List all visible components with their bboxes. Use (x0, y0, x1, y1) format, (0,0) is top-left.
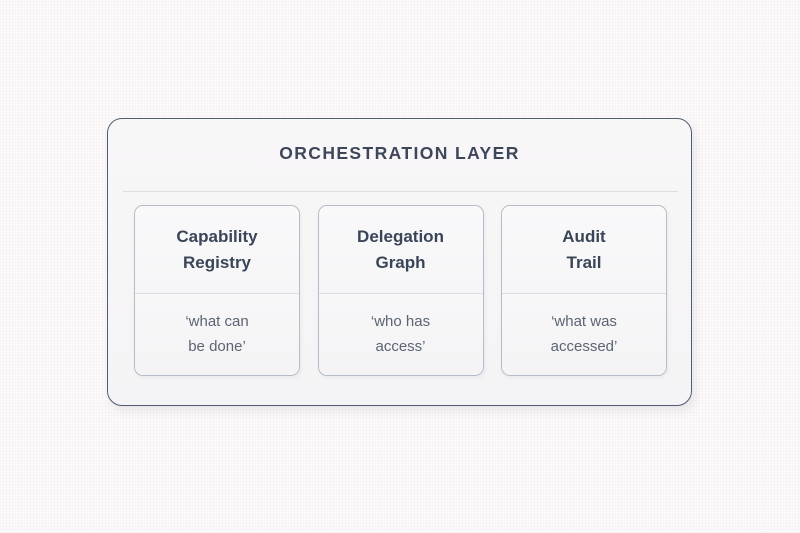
card-caption-zone: ‘what can be done’ (135, 294, 299, 375)
card-title-zone: Delegation Graph (319, 206, 483, 294)
card-title-zone: Capability Registry (135, 206, 299, 294)
card-title-zone: Audit Trail (502, 206, 666, 294)
card-title-line-1: Audit (562, 224, 605, 250)
card-delegation-graph[interactable]: Delegation Graph ‘who has access’ (318, 205, 484, 376)
card-caption-line-1: ‘what can (185, 310, 248, 334)
panel-divider (123, 191, 678, 192)
card-caption-line-2: access’ (375, 335, 425, 359)
orchestration-layer-diagram: ORCHESTRATION LAYER Capability Registry … (0, 0, 800, 533)
card-caption-zone: ‘what was accessed’ (502, 294, 666, 375)
card-title-line-2: Registry (183, 250, 251, 276)
card-title-line-1: Capability (176, 224, 257, 250)
card-title-line-1: Delegation (357, 224, 444, 250)
orchestration-layer-panel: ORCHESTRATION LAYER Capability Registry … (107, 118, 692, 406)
card-title-line-2: Graph (375, 250, 425, 276)
card-capability-registry[interactable]: Capability Registry ‘what can be done’ (134, 205, 300, 376)
card-title-line-2: Trail (567, 250, 602, 276)
card-caption-zone: ‘who has access’ (319, 294, 483, 375)
card-caption-line-1: ‘who has (371, 310, 430, 334)
card-caption-line-2: be done’ (188, 335, 246, 359)
component-card-row: Capability Registry ‘what can be done’ D… (134, 205, 667, 376)
card-audit-trail[interactable]: Audit Trail ‘what was accessed’ (501, 205, 667, 376)
card-caption-line-1: ‘what was (551, 310, 617, 334)
page-title: ORCHESTRATION LAYER (108, 143, 691, 164)
card-caption-line-2: accessed’ (551, 335, 618, 359)
